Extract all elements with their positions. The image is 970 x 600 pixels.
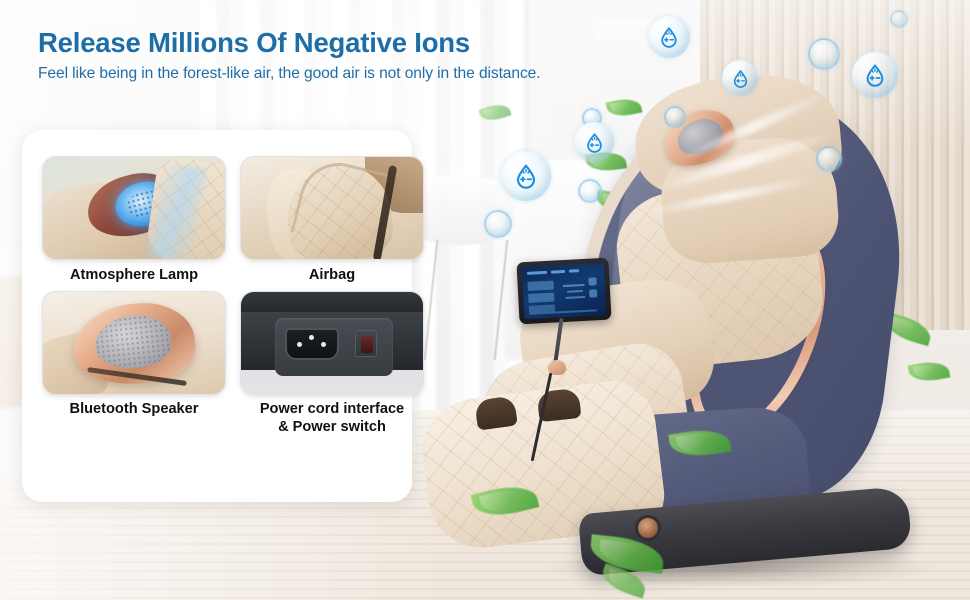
feature-label: Atmosphere Lamp <box>42 260 226 285</box>
feature-label: Airbag <box>240 260 424 285</box>
atmosphere-lamp-photo <box>42 156 226 260</box>
ion-bubble <box>852 52 898 98</box>
feature-item-bluetooth-speaker[interactable]: Bluetooth Speaker <box>42 291 226 437</box>
feature-item-power-cord[interactable]: Power cord interface & Power switch <box>240 291 424 437</box>
chair-remote-tablet[interactable] <box>516 258 611 325</box>
ion-bubble-ring <box>578 179 602 203</box>
ion-bubble-ring <box>816 146 842 172</box>
feature-item-atmosphere-lamp[interactable]: Atmosphere Lamp <box>42 156 226 285</box>
negative-ion-droplet-icon <box>513 163 539 189</box>
negative-ion-droplet-icon <box>658 26 680 48</box>
feature-card: Atmosphere Lamp Airbag <box>22 130 412 502</box>
airbag-photo <box>240 156 424 260</box>
massage-chair <box>430 60 970 600</box>
ion-bubble-ring <box>808 38 840 70</box>
product-marketing-banner: Release Millions Of Negative Ions Feel l… <box>0 0 970 600</box>
ion-bubble-ring <box>484 210 512 238</box>
feature-label: Bluetooth Speaker <box>42 395 226 419</box>
page-subtitle: Feel like being in the forest-like air, … <box>38 65 660 83</box>
feature-grid: Atmosphere Lamp Airbag <box>42 156 392 436</box>
bluetooth-speaker-photo <box>42 291 226 395</box>
ion-bubble-ring <box>664 106 686 128</box>
negative-ion-droplet-icon <box>731 69 750 88</box>
header: Release Millions Of Negative Ions Feel l… <box>0 0 660 83</box>
ion-bubble <box>574 122 614 162</box>
remote-screen[interactable] <box>522 263 607 319</box>
feature-item-airbag[interactable]: Airbag <box>240 156 424 285</box>
ion-bubble <box>722 60 758 96</box>
chair-wheel <box>635 515 661 541</box>
ion-bubble-ring <box>890 10 908 28</box>
negative-ion-droplet-icon <box>584 132 605 153</box>
page-title: Release Millions Of Negative Ions <box>38 28 660 58</box>
ion-bubble <box>501 151 551 201</box>
feature-label: Power cord interface & Power switch <box>240 395 424 437</box>
power-cord-switch-photo <box>240 291 424 395</box>
negative-ion-droplet-icon <box>863 63 887 87</box>
